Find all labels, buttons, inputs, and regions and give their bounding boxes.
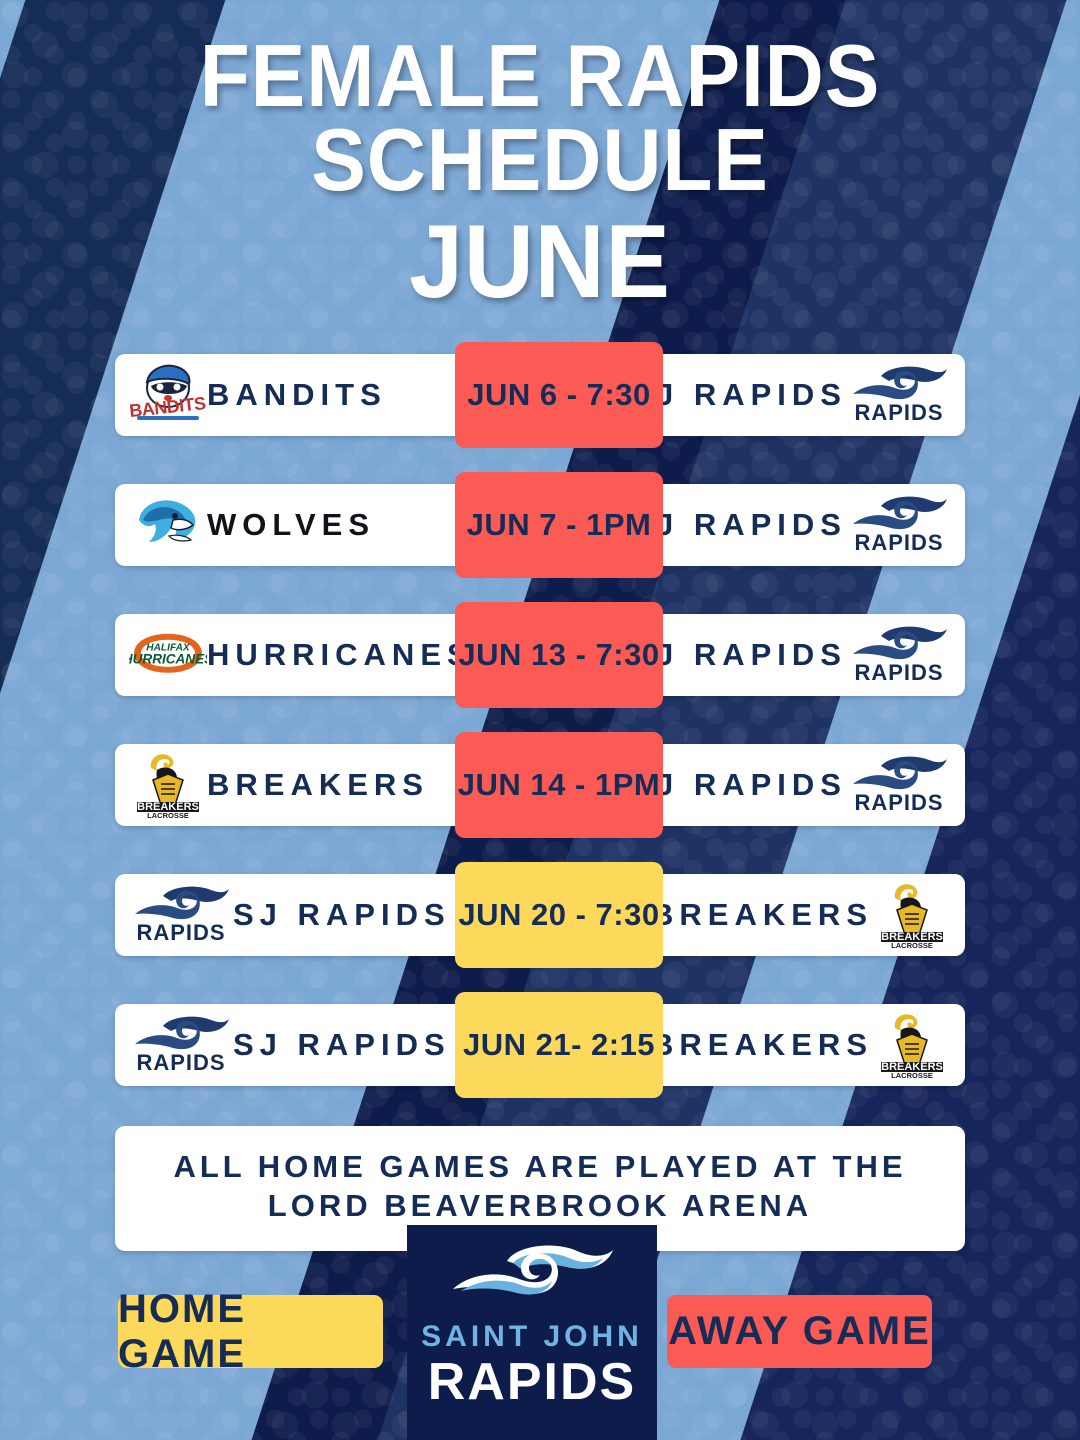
date-badge-home: JUN 20 - 7:30 [455, 862, 663, 968]
left-team-name: BREAKERS [207, 767, 429, 803]
brand-panel: SAINT JOHN RAPIDS [407, 1225, 657, 1440]
date-badge-label: JUN 21- 2:15 [463, 1027, 655, 1063]
page-title: FEMALE RAPIDS SCHEDULE [38, 34, 1042, 201]
date-badge-label: JUN 13 - 7:30 [458, 637, 659, 673]
legend-away-game: AWAY GAME [667, 1295, 932, 1368]
breakers-logo: BREAKERS LACROSSE [873, 1009, 951, 1081]
rapids-logo: RAPIDS [847, 489, 951, 561]
poster-footer: HOME GAME SAINT JOHN RAPIDS AWAY GAME [0, 1225, 1080, 1440]
svg-text:LACROSSE: LACROSSE [891, 941, 933, 950]
venue-line-2: LORD BEAVERBROOK ARENA [135, 1187, 945, 1226]
svg-text:RAPIDS: RAPIDS [854, 660, 943, 685]
svg-text:HURRICANES: HURRICANES [129, 651, 207, 666]
svg-text:RAPIDS: RAPIDS [854, 400, 943, 425]
breakers-logo: BREAKERS LACROSSE [129, 749, 207, 821]
rapids-logo: RAPIDS [129, 1009, 233, 1081]
brand-city: SAINT JOHN [421, 1320, 643, 1354]
schedule-row: RAPIDS SJ RAPIDS JUN 20 - 7:30 BREAKERS … [115, 874, 965, 956]
date-badge-label: JUN 6 - 7:30 [467, 377, 650, 413]
date-badge-label: JUN 20 - 7:30 [458, 897, 659, 933]
month-title: JUNE [38, 213, 1042, 312]
svg-text:RAPIDS: RAPIDS [136, 1050, 225, 1075]
home-side: WOLVES [115, 484, 455, 566]
legend-home-game: HOME GAME [118, 1295, 383, 1368]
svg-text:RAPIDS: RAPIDS [854, 530, 943, 555]
date-badge-away: JUN 6 - 7:30 [455, 342, 663, 448]
home-side: BANDITS BANDITS [115, 354, 455, 436]
left-team-name: SJ RAPIDS [233, 1027, 451, 1063]
home-side: BREAKERS LACROSSE BREAKERS [115, 744, 455, 826]
left-team-name: BANDITS [207, 377, 387, 413]
home-side: HALIFAX HURRICANES HURRICANES [115, 614, 488, 696]
rapids-logo: RAPIDS [847, 619, 951, 691]
date-badge-away: JUN 7 - 1PM [455, 472, 663, 578]
brand-name: RAPIDS [428, 1356, 636, 1408]
rapids-logo: RAPIDS [847, 359, 951, 431]
breakers-logo: BREAKERS LACROSSE [873, 879, 951, 951]
date-badge-away: JUN 14 - 1PM [455, 732, 663, 838]
svg-text:RAPIDS: RAPIDS [136, 920, 225, 945]
svg-text:LACROSSE: LACROSSE [891, 1071, 933, 1080]
svg-text:LACROSSE: LACROSSE [147, 811, 189, 820]
hurricanes-logo: HALIFAX HURRICANES [129, 619, 207, 691]
date-badge-home: JUN 21- 2:15 [455, 992, 663, 1098]
right-team-name: BREAKERS [651, 1027, 873, 1063]
date-badge-label: JUN 14 - 1PM [458, 767, 660, 803]
rapids-logo: RAPIDS [129, 879, 233, 951]
rapids-wave-icon [447, 1239, 617, 1318]
left-team-name: HURRICANES [207, 637, 474, 673]
wolves-logo [129, 489, 207, 561]
schedule-row: BREAKERS LACROSSE BREAKERS JUN 14 - 1PM … [115, 744, 965, 826]
schedule-row: BANDITS BANDITS JUN 6 - 7:30 SJ RAPIDS R… [115, 354, 965, 436]
schedule-row: HALIFAX HURRICANES HURRICANES JUN 13 - 7… [115, 614, 965, 696]
schedule-row: RAPIDS SJ RAPIDS JUN 21- 2:15 BREAKERS B… [115, 1004, 965, 1086]
date-badge-label: JUN 7 - 1PM [467, 507, 652, 543]
legend-home-label: HOME GAME [118, 1287, 383, 1377]
schedule-list: BANDITS BANDITS JUN 6 - 7:30 SJ RAPIDS R… [0, 354, 1080, 1086]
left-team-name: SJ RAPIDS [233, 897, 451, 933]
left-team-name: WOLVES [207, 507, 375, 543]
svg-text:RAPIDS: RAPIDS [854, 790, 943, 815]
date-badge-away: JUN 13 - 7:30 [455, 602, 663, 708]
legend-away-label: AWAY GAME [668, 1309, 931, 1354]
poster-canvas: FEMALE RAPIDS SCHEDULE JUNE BANDITS BAND… [0, 0, 1080, 1440]
bandits-logo: BANDITS [129, 359, 207, 431]
home-side: RAPIDS SJ RAPIDS [115, 1004, 465, 1086]
rapids-logo: RAPIDS [847, 749, 951, 821]
home-side: RAPIDS SJ RAPIDS [115, 874, 465, 956]
venue-line-1: ALL HOME GAMES ARE PLAYED AT THE [135, 1148, 945, 1187]
poster-header: FEMALE RAPIDS SCHEDULE JUNE [0, 0, 1080, 312]
schedule-row: WOLVES JUN 7 - 1PM SJ RAPIDS RAPIDS [115, 484, 965, 566]
right-team-name: BREAKERS [651, 897, 873, 933]
